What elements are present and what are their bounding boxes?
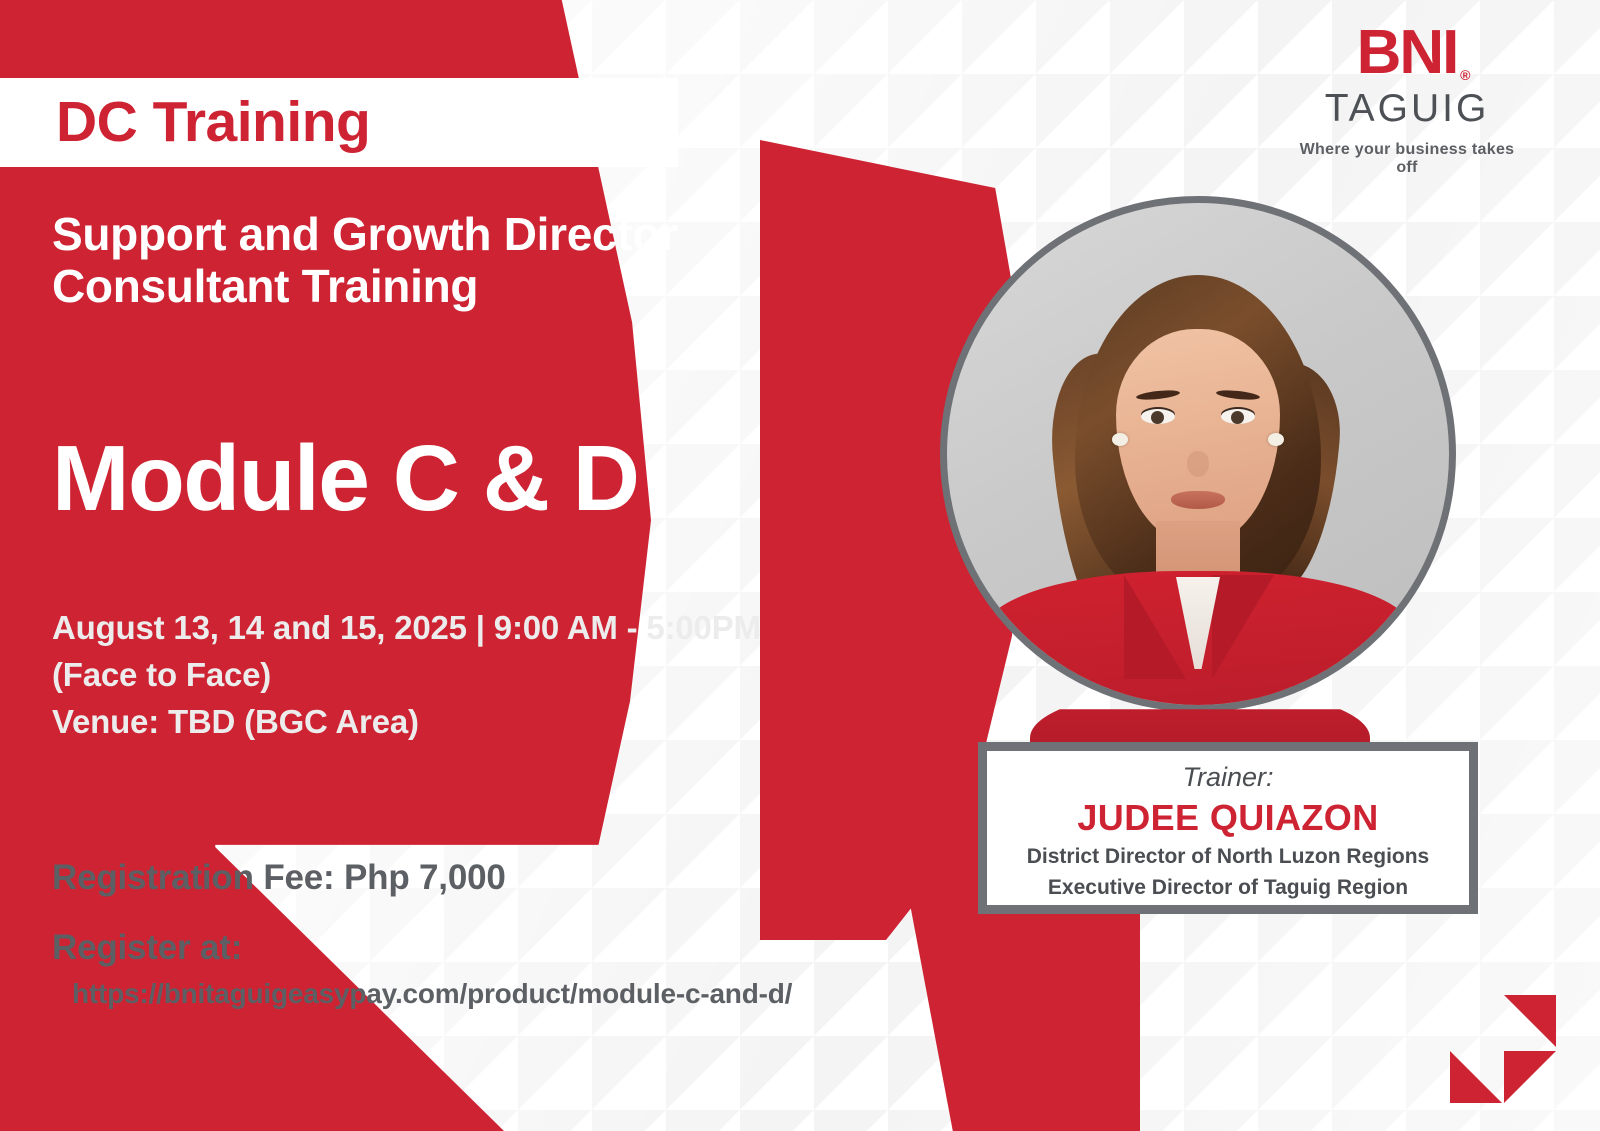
registered-trademark-icon: ® xyxy=(1460,68,1470,82)
portrait-nose xyxy=(1187,451,1209,477)
schedule-format: (Face to Face) xyxy=(52,652,952,699)
trainer-info-box: Trainer: JUDEE QUIAZON District Director… xyxy=(978,742,1478,914)
schedule-block: August 13, 14 and 15, 2025 | 9:00 AM - 5… xyxy=(52,605,952,746)
schedule-venue: Venue: TBD (BGC Area) xyxy=(52,699,952,746)
trainer-role-line-1: District Director of North Luzon Regions xyxy=(987,844,1469,871)
bni-wordmark-text: BNI ® xyxy=(1357,22,1458,84)
trainer-label: Trainer: xyxy=(987,762,1469,793)
course-subtitle: Support and Growth Director Consultant T… xyxy=(52,209,742,312)
register-at-label: Register at: xyxy=(52,928,242,968)
portrait-lips xyxy=(1171,491,1225,509)
pinwheel-triangle-right xyxy=(1504,1051,1556,1103)
module-title: Module C & D xyxy=(52,432,638,525)
portrait-blazer-lapel-right xyxy=(1212,575,1274,679)
portrait-pupil-left xyxy=(1151,411,1164,424)
pinwheel-triangle-top xyxy=(1504,995,1556,1047)
trainer-name: JUDEE QUIAZON xyxy=(987,795,1469,840)
dc-training-label: DC Training xyxy=(0,94,370,151)
registration-fee: Registration Fee: Php 7,000 xyxy=(52,858,506,898)
trainer-portrait xyxy=(940,196,1456,712)
portrait-earring-left xyxy=(1112,433,1128,446)
registration-url-link[interactable]: https://bnitaguigeasypay.com/product/mod… xyxy=(72,978,792,1010)
schedule-date-time: August 13, 14 and 15, 2025 | 9:00 AM - 5… xyxy=(52,605,952,652)
portrait-blazer-lapel-left xyxy=(1124,575,1186,679)
bni-chapter-name: TAGUIG xyxy=(1292,86,1522,133)
trainer-role-line-2: Executive Director of Taguig Region xyxy=(987,875,1469,902)
bni-logo: BNI ® TAGUIG Where your business takes o… xyxy=(1292,22,1522,177)
portrait-pupil-right xyxy=(1231,411,1244,424)
portrait-earring-right xyxy=(1268,433,1284,446)
bni-wordmark-label: BNI xyxy=(1357,18,1458,87)
portrait-circle-frame xyxy=(940,196,1456,712)
dc-training-banner: DC Training xyxy=(0,78,678,167)
bni-pinwheel-icon xyxy=(1450,995,1556,1103)
pinwheel-triangle-left xyxy=(1450,1051,1502,1103)
bni-tagline: Where your business takes off xyxy=(1292,141,1522,177)
event-poster: DC Training Support and Growth Director … xyxy=(0,0,1600,1131)
